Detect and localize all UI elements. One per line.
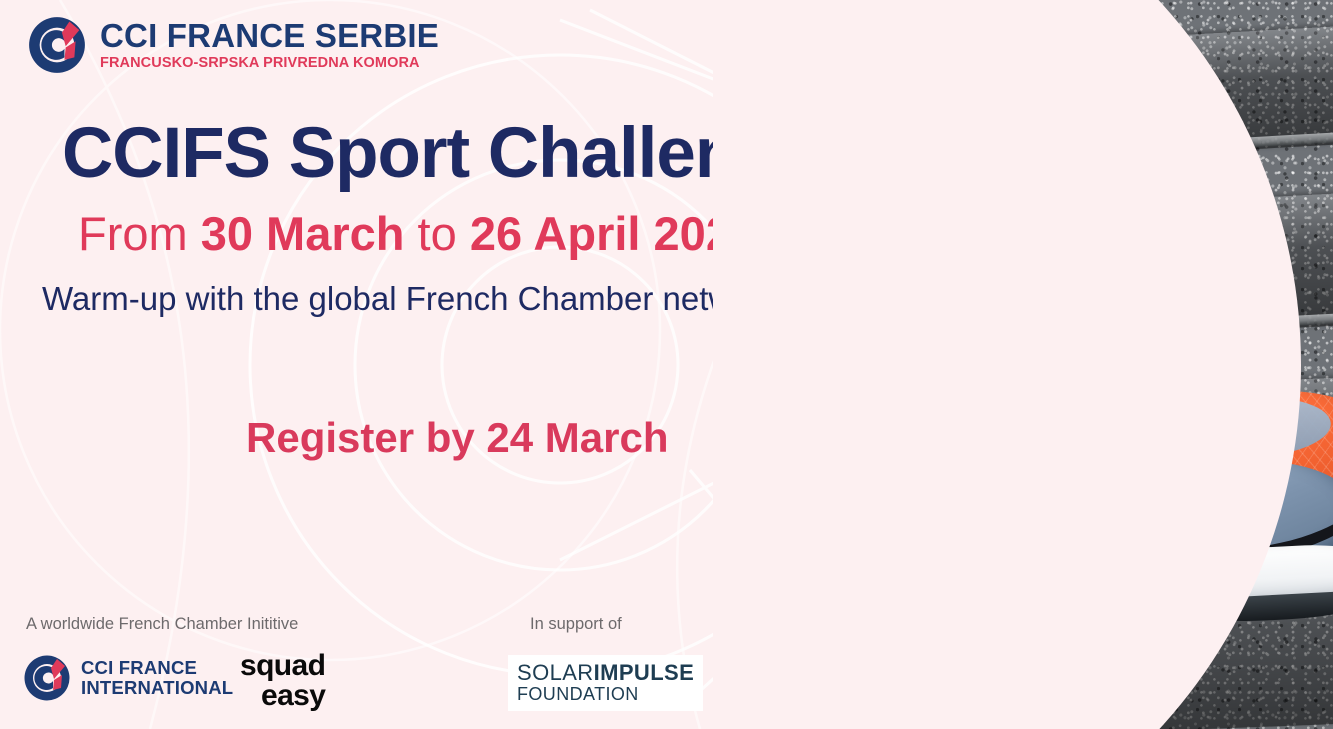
header-logo-text: CCI FRANCE SERBIE FRANCUSKO-SRPSKA PRIVR… <box>100 19 439 71</box>
runner-photo <box>713 0 1333 729</box>
solar-impulse-line2: FOUNDATION <box>517 685 694 704</box>
cci-france-international-logo-icon <box>22 653 72 703</box>
event-banner: CCI FRANCE SERBIE FRANCUSKO-SRPSKA PRIVR… <box>0 0 1333 729</box>
ccifi-line1: CCI FRANCE <box>81 658 233 678</box>
cci-france-international-text: CCI FRANCE INTERNATIONAL <box>81 658 233 697</box>
dates-prefix: From <box>78 207 201 260</box>
solar-impulse-line1: SOLARIMPULSE <box>517 661 694 685</box>
dates-middle: to <box>405 207 470 260</box>
header-logo-main: CCI FRANCE SERBIE <box>100 19 439 52</box>
cci-france-serbie-logo-icon <box>26 14 88 76</box>
footer-caption-right: In support of <box>530 615 622 634</box>
header-logo-sub: FRANCUSKO-SRPSKA PRIVREDNA KOMORA <box>100 56 439 71</box>
header-logo[interactable]: CCI FRANCE SERBIE FRANCUSKO-SRPSKA PRIVR… <box>26 14 439 76</box>
ccifi-line2: INTERNATIONAL <box>81 678 233 698</box>
footer: A worldwide French Chamber Inititive In … <box>0 615 760 713</box>
photo-curve-mask <box>713 0 1301 729</box>
cci-france-international-logo[interactable]: CCI FRANCE INTERNATIONAL <box>22 653 233 703</box>
squadeasy-text: squad easy <box>240 651 325 711</box>
solar-impulse-box: SOLARIMPULSE FOUNDATION <box>508 655 703 711</box>
squadeasy-line2: easy <box>240 681 325 711</box>
squadeasy-logo[interactable]: squad easy <box>240 651 325 711</box>
squadeasy-line1: squad <box>240 651 325 681</box>
solar-word: SOLAR <box>517 660 594 685</box>
footer-captions: A worldwide French Chamber Inititive In … <box>0 615 760 639</box>
dates-start: 30 March <box>201 207 405 260</box>
impulse-word: IMPULSE <box>594 660 695 685</box>
footer-caption-left: A worldwide French Chamber Inititive <box>26 615 298 634</box>
solar-impulse-foundation-logo[interactable]: SOLARIMPULSE FOUNDATION <box>508 655 703 711</box>
footer-logos: CCI FRANCE INTERNATIONAL squad easy SOLA… <box>0 651 760 713</box>
